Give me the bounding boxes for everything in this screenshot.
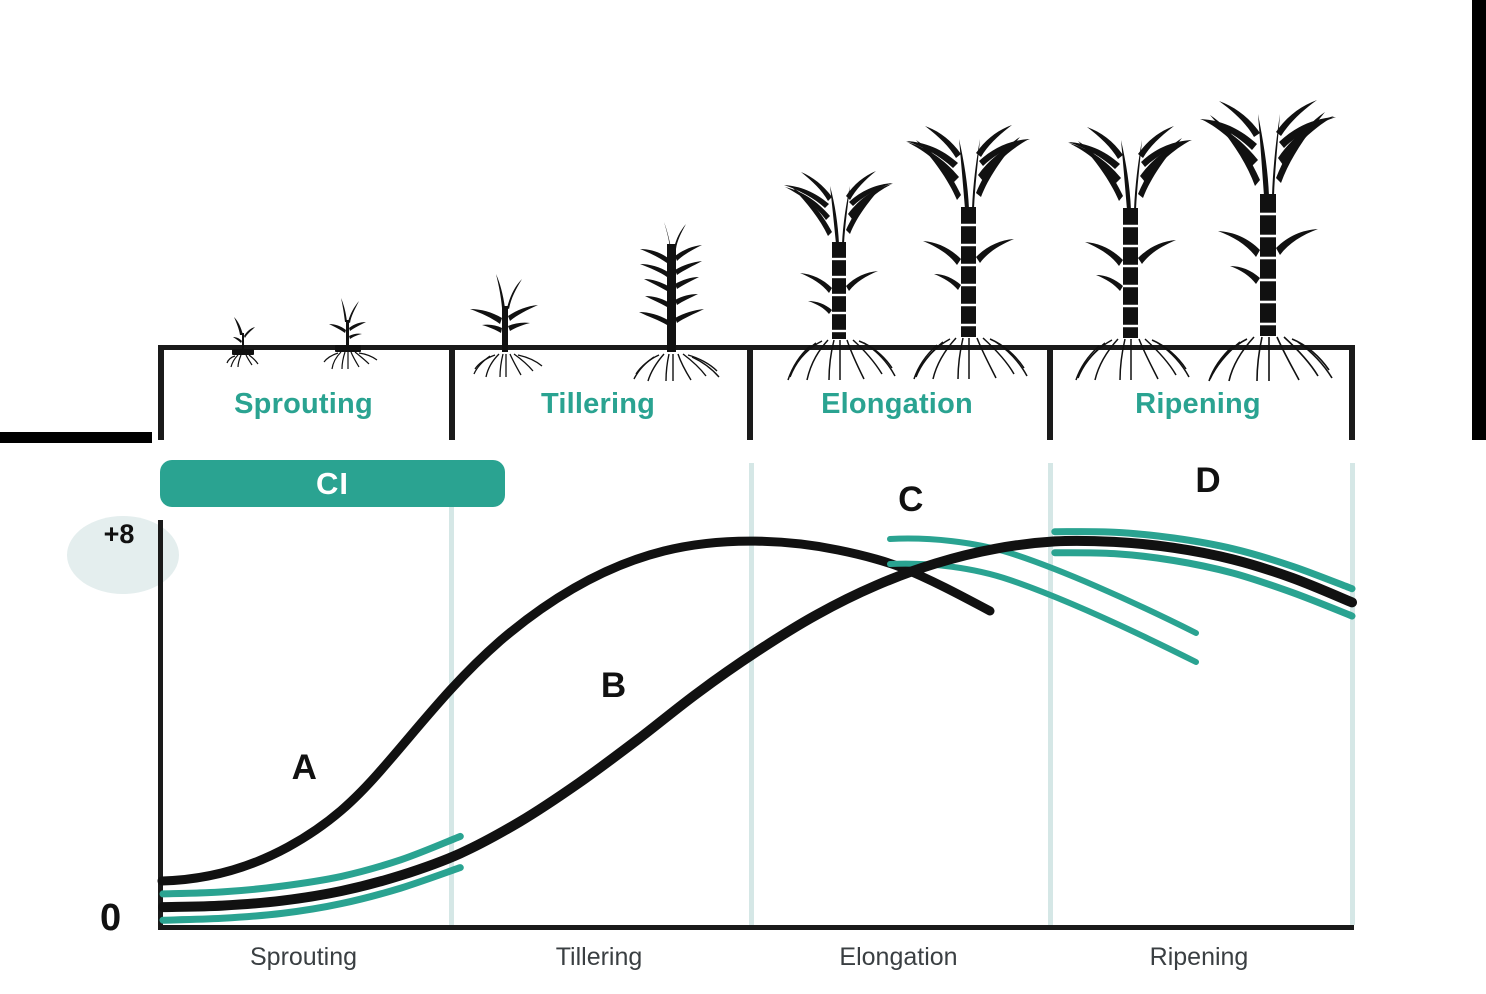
plant-ripening-left: [1060, 90, 1200, 382]
curve-annotation-b: B: [601, 666, 626, 706]
stage-label-elongation: Elongation: [747, 388, 1047, 421]
stage-label-sprouting: Sprouting: [158, 388, 449, 421]
x-axis-category-tillering: Tillering: [449, 943, 749, 972]
curve-annotation-d: D: [1195, 461, 1220, 501]
curve-annotation-c: C: [898, 480, 923, 520]
growth-curve-line: [163, 541, 1352, 907]
plant-elongation-right: [898, 87, 1038, 382]
plant-tillering-large: [612, 222, 730, 382]
x-axis-category-sprouting: Sprouting: [158, 943, 449, 972]
plant-elongation-left: [772, 134, 906, 382]
image-edge-artifact-right: [1472, 0, 1486, 440]
plant-ripening-right: [1192, 64, 1342, 382]
growth-curve-chart: CI +8 0 A B C D Sprouting Tillering Elon: [0, 443, 1486, 994]
plant-sprouting-small: [208, 313, 278, 368]
plant-tillering-small: [455, 270, 555, 378]
stage-label-ripening: Ripening: [1047, 388, 1349, 421]
bracket-tick-4: [1349, 345, 1355, 440]
stage-label-tillering: Tillering: [449, 388, 747, 421]
growth-stage-panel: Sprouting Tillering Elongation Ripening: [0, 0, 1472, 440]
curve-overlay: [0, 443, 1486, 994]
curve-annotation-a: A: [292, 748, 317, 788]
x-axis-category-ripening: Ripening: [1048, 943, 1350, 972]
x-axis-category-elongation: Elongation: [749, 943, 1048, 972]
image-edge-artifact-left: [0, 432, 152, 443]
plant-sprouting-large: [305, 298, 391, 370]
